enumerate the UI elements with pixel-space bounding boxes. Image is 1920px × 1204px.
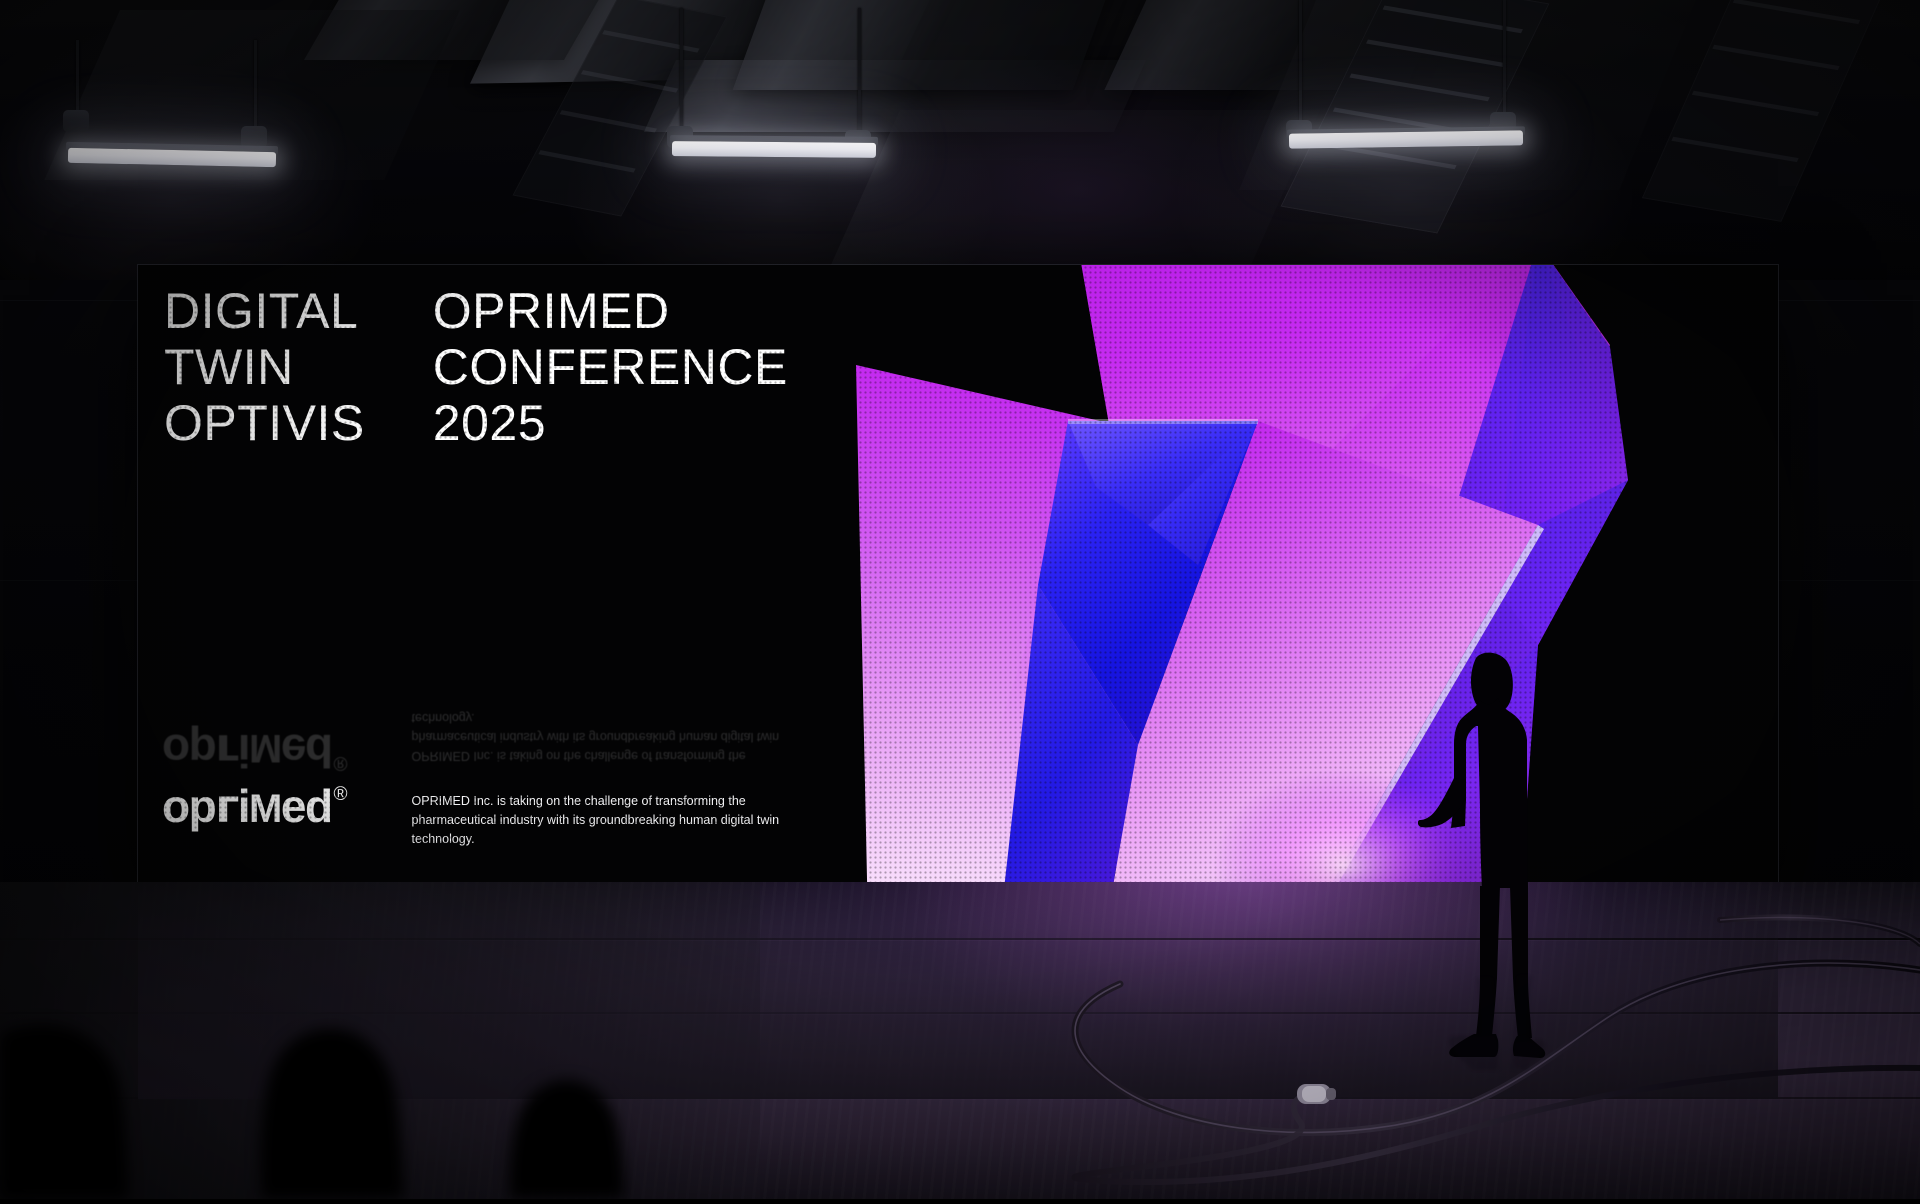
audience-head-3 <box>510 1080 625 1199</box>
headline-right-line-2: CONFERENCE <box>433 339 788 395</box>
cable-right-tail <box>1720 917 1920 944</box>
screen-footer: opгiМed ® OPRIMED Inc. is taking on the … <box>162 785 792 849</box>
cable-front-loop <box>1074 1068 1920 1182</box>
headline-block: DIGITAL TWIN OPTIVIS OPRIMED CONFERENCE … <box>164 283 788 451</box>
logo-text-ed: ed <box>281 785 332 827</box>
audience-head-1 <box>0 1025 128 1199</box>
headline-left-line-2: TWIN <box>164 339 365 395</box>
audience-head-2 <box>261 1029 405 1199</box>
logo-wordmark: opгiМed <box>162 785 332 830</box>
logo-text-op: op <box>162 785 215 827</box>
ceiling-panel-b <box>824 110 1320 280</box>
edge-highlight-fold <box>1068 419 1258 424</box>
foreground-audience-silhouettes <box>0 969 900 1199</box>
oprimed-logo: opгiМed ® <box>162 785 348 830</box>
registered-trademark-icon: ® <box>334 785 348 804</box>
ceiling-tube-light-right <box>1275 0 1535 160</box>
logo-text-i: i <box>238 785 249 827</box>
headline-left-line-1: DIGITAL <box>164 283 365 339</box>
light-tube-glow-mid <box>672 141 876 158</box>
logo-text-r: г <box>215 785 238 827</box>
ceiling <box>0 0 1920 300</box>
presenter-reflection <box>1418 940 1608 1070</box>
headline-right-line-1: OPRIMED <box>433 283 788 339</box>
headline-column-left: DIGITAL TWIN OPTIVIS <box>164 283 365 451</box>
light-tube-glow-right <box>1289 130 1523 148</box>
screen-blurb-text: OPRIMED Inc. is taking on the challenge … <box>412 785 792 849</box>
ceiling-tube-light-left <box>58 40 278 175</box>
ceiling-tube-light-mid <box>660 8 890 158</box>
headline-column-right: OPRIMED CONFERENCE 2025 <box>433 283 788 451</box>
abstract-ribbon-artwork <box>838 265 1778 885</box>
cable-connector <box>1297 1084 1336 1104</box>
light-tube-glow-left <box>68 148 276 167</box>
headline-right-line-3: 2025 <box>433 395 788 451</box>
headline-left-line-3: OPTIVIS <box>164 395 365 451</box>
stage-scene: DIGITAL TWIN OPTIVIS OPRIMED CONFERENCE … <box>0 0 1920 1199</box>
logo-text-m: М <box>249 788 281 830</box>
